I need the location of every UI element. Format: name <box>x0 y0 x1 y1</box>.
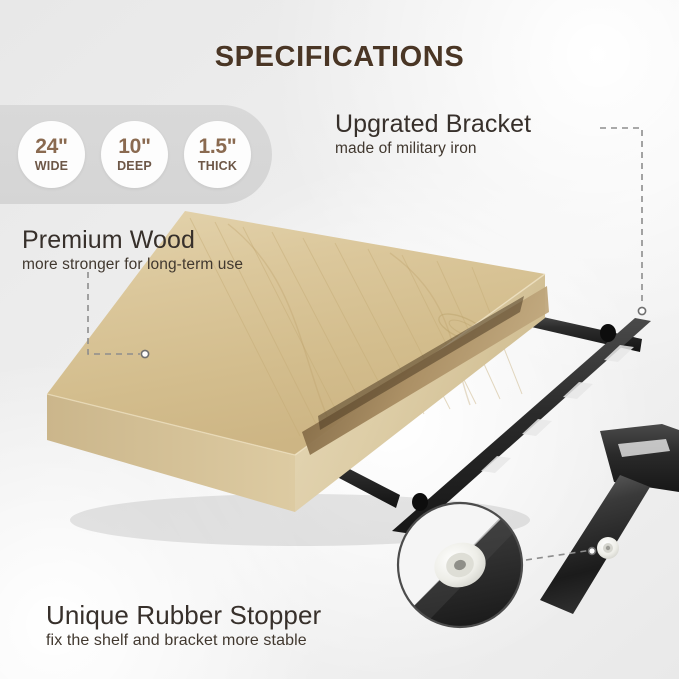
product-illustration <box>0 0 679 679</box>
spec-badge-wide: 24" WIDE <box>18 121 85 188</box>
second-bracket <box>540 424 679 614</box>
leader-bracket <box>600 128 642 305</box>
spec-badge-thick: 1.5" THICK <box>184 121 251 188</box>
spec-badge-label: WIDE <box>35 160 68 173</box>
spec-badge-deep: 10" DEEP <box>101 121 168 188</box>
callout-premium-wood: Premium Wood more stronger for long-term… <box>22 226 243 274</box>
callout-rubber-stopper: Unique Rubber Stopper fix the shelf and … <box>46 600 321 650</box>
callout-subtitle: more stronger for long-term use <box>22 256 243 274</box>
callout-subtitle: fix the shelf and bracket more stable <box>46 632 321 650</box>
page-title: SPECIFICATIONS <box>0 41 679 74</box>
spec-badge-value: 10" <box>118 136 150 157</box>
callout-subtitle: made of military iron <box>335 140 531 158</box>
spec-badge-label: DEEP <box>117 160 152 173</box>
callout-title: Upgrated Bracket <box>335 110 531 139</box>
spec-badge-value: 24" <box>35 136 67 157</box>
infographic-canvas: SPECIFICATIONS 24" WIDE 10" DEEP 1.5" TH… <box>0 0 679 679</box>
spec-badge-label: THICK <box>198 160 237 173</box>
callout-upgrated-bracket: Upgrated Bracket made of military iron <box>335 110 531 158</box>
callout-title: Premium Wood <box>22 226 243 255</box>
spec-badge-value: 1.5" <box>199 136 237 157</box>
callout-title: Unique Rubber Stopper <box>46 600 321 631</box>
